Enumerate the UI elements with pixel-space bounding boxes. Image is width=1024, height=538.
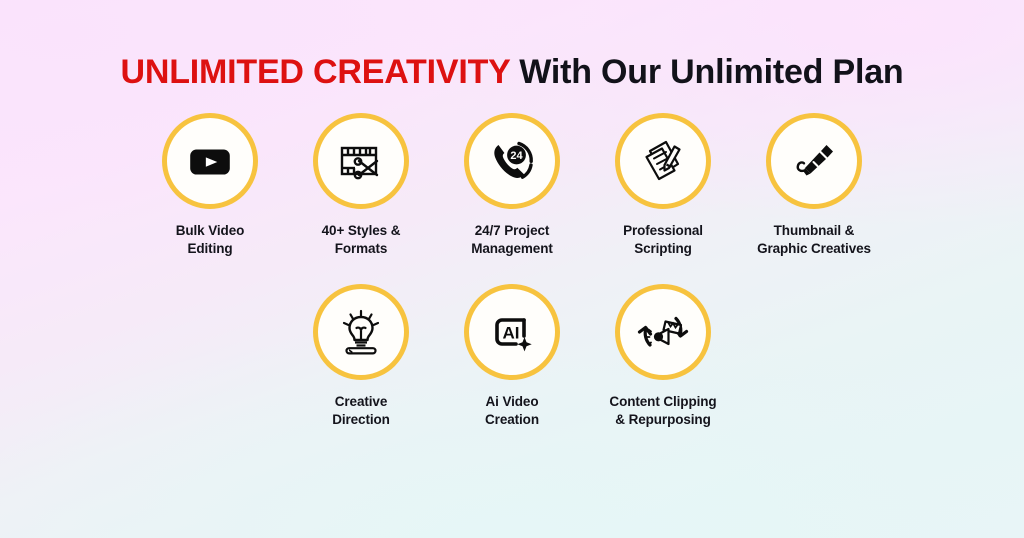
feature-label: 40+ Styles & Formats bbox=[322, 222, 401, 258]
ai-sparkle-icon: AI bbox=[486, 306, 538, 358]
feature-row-2: Creative Direction AI Ai Video Creation bbox=[0, 284, 1024, 429]
documents-pencil-icon bbox=[636, 134, 690, 188]
feature-label: Ai Video Creation bbox=[485, 393, 539, 429]
feature-ai-video-creation[interactable]: AI Ai Video Creation bbox=[437, 284, 588, 429]
feature-creative-direction[interactable]: Creative Direction bbox=[286, 284, 437, 429]
feature-label: Content Clipping & Repurposing bbox=[609, 393, 716, 429]
icon-circle bbox=[615, 113, 711, 209]
headline-highlight: UNLIMITED CREATIVITY bbox=[121, 53, 511, 91]
play-button-icon bbox=[185, 136, 235, 186]
feature-grid: Bulk Video Editing bbox=[0, 113, 1024, 428]
icon-circle bbox=[313, 284, 409, 380]
feature-row-1: Bulk Video Editing bbox=[0, 113, 1024, 258]
feature-label: Professional Scripting bbox=[623, 222, 703, 258]
icon-circle bbox=[313, 113, 409, 209]
feature-project-management[interactable]: 24 24/7 Project Management bbox=[437, 113, 588, 258]
promo-banner: UNLIMITED CREATIVITY With Our Unlimited … bbox=[0, 0, 1024, 538]
feature-styles-formats[interactable]: 40+ Styles & Formats bbox=[286, 113, 437, 258]
feature-content-clipping[interactable]: Content Clipping & Repurposing bbox=[588, 284, 739, 429]
svg-text:24: 24 bbox=[510, 150, 523, 162]
lightbulb-pencil-icon bbox=[334, 305, 388, 359]
film-strip-scissors-icon bbox=[335, 135, 387, 187]
icon-circle bbox=[615, 284, 711, 380]
svg-text:AI: AI bbox=[503, 324, 520, 343]
phone-24-support-icon: 24 bbox=[485, 134, 539, 188]
icon-circle: 24 bbox=[464, 113, 560, 209]
feature-professional-scripting[interactable]: Professional Scripting bbox=[588, 113, 739, 258]
icon-circle bbox=[162, 113, 258, 209]
icon-circle: AI bbox=[464, 284, 560, 380]
feature-label: Creative Direction bbox=[332, 393, 390, 429]
headline-rest: With Our Unlimited Plan bbox=[510, 53, 903, 91]
page-title: UNLIMITED CREATIVITY With Our Unlimited … bbox=[0, 0, 1024, 91]
feature-label: Thumbnail & Graphic Creatives bbox=[757, 222, 871, 258]
feature-thumbnail-graphics[interactable]: Thumbnail & Graphic Creatives bbox=[739, 113, 890, 258]
pen-nib-icon bbox=[788, 135, 840, 187]
recycle-clapperboard-icon bbox=[635, 304, 691, 360]
icon-circle bbox=[766, 113, 862, 209]
feature-label: Bulk Video Editing bbox=[176, 222, 245, 258]
feature-bulk-video-editing[interactable]: Bulk Video Editing bbox=[135, 113, 286, 258]
feature-label: 24/7 Project Management bbox=[471, 222, 553, 258]
